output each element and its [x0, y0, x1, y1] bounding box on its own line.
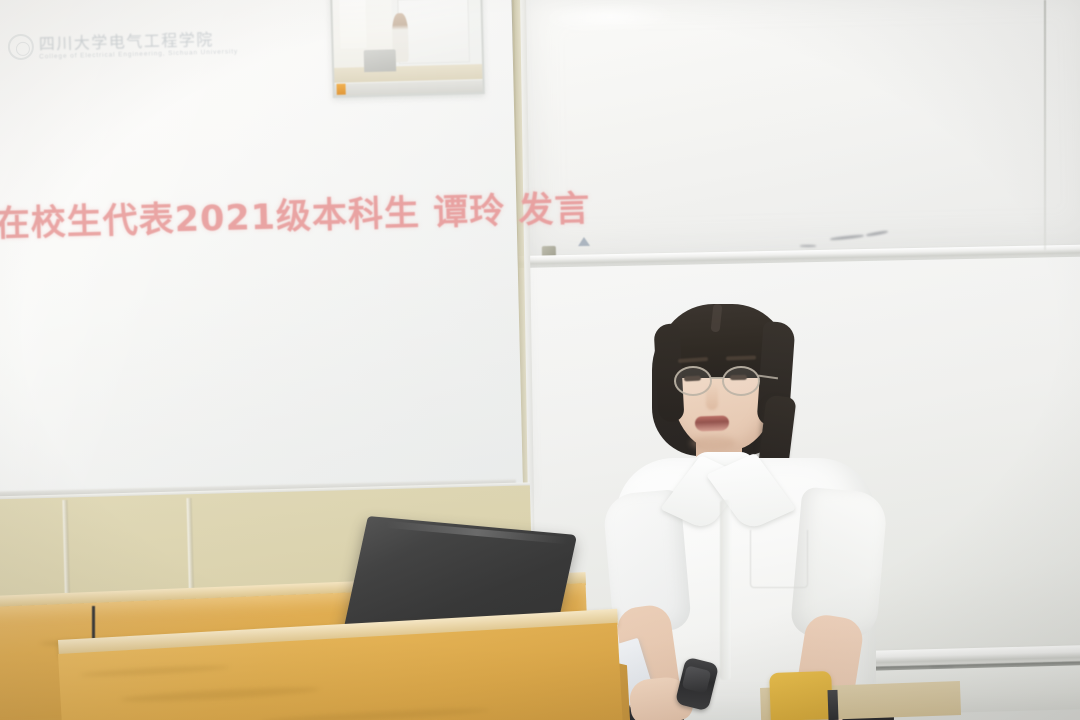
whiteboard-smudge — [800, 245, 816, 247]
mouth — [695, 415, 730, 431]
nose — [706, 384, 718, 410]
pip-video-window — [330, 0, 485, 98]
institution-logo: 四川大学电气工程学院 College of Electrical Enginee… — [7, 24, 183, 77]
pip-record-badge-icon — [337, 84, 346, 95]
chin-shadow — [690, 436, 736, 450]
chair-leg — [827, 690, 838, 720]
shirt-placket — [720, 500, 731, 680]
university-seal-icon — [8, 34, 35, 61]
pip-window-light — [340, 0, 367, 49]
eyeglasses-bridge — [711, 377, 724, 379]
whiteboard-glare — [545, 1, 676, 34]
pip-laptop — [363, 50, 396, 72]
speaker-figure — [600, 300, 900, 720]
eyeglasses-lens-right — [722, 366, 760, 396]
whiteboard-triangle-mark — [578, 237, 590, 246]
photo-scene: 四川大学电气工程学院 College of Electrical Enginee… — [0, 0, 1080, 720]
shirt-chest-pocket — [750, 530, 808, 588]
whiteboard-upper-panel — [520, 0, 1080, 262]
chair-backrest — [769, 671, 833, 720]
pip-statusbar — [335, 80, 483, 96]
wall-seam — [1044, 0, 1046, 250]
